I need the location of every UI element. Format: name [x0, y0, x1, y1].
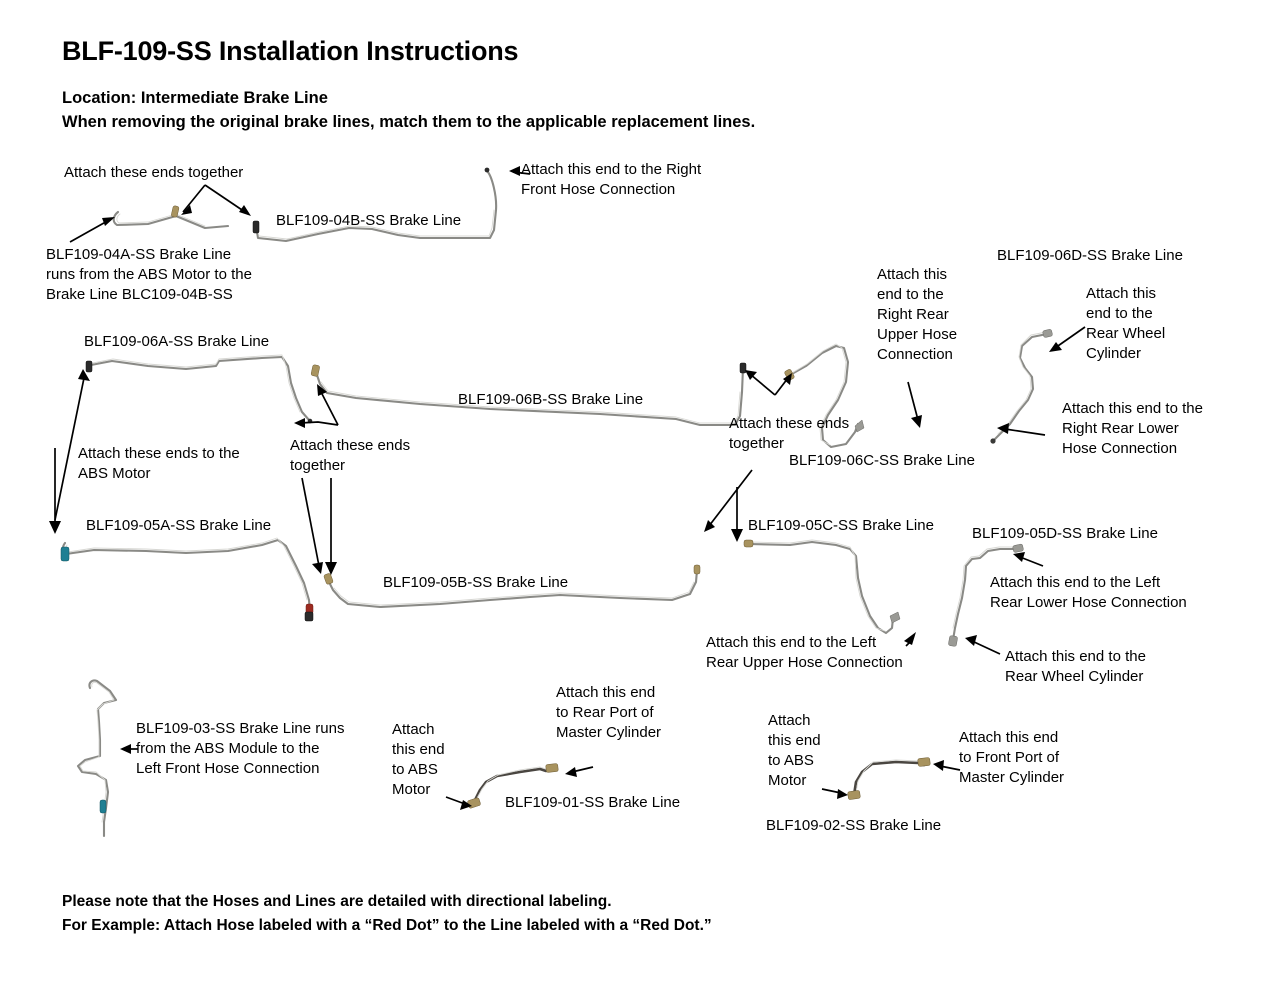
label-line-06a: BLF109-06A-SS Brake Line	[84, 332, 269, 352]
match-instruction-line: When removing the original brake lines, …	[62, 113, 755, 132]
arrow-front-port-master	[933, 760, 960, 771]
label-line-05d: BLF109-05D-SS Brake Line	[972, 524, 1158, 544]
label-line-04a: BLF109-04A-SS Brake Line runs from the A…	[46, 245, 252, 305]
arrow-line-04a	[70, 217, 115, 242]
label-line-06c: BLF109-06C-SS Brake Line	[789, 451, 975, 471]
arrow-right-rear-lower	[997, 423, 1045, 435]
callout-attach-rear-wheel-cylinder-left: Attach this end to the Rear Wheel Cylind…	[1005, 647, 1146, 687]
callout-attach-rear-port-master: Attach this end to Rear Port of Master C…	[556, 683, 661, 743]
label-line-02: BLF109-02-SS Brake Line	[766, 816, 941, 836]
callout-attach-ends-together-mid-right: Attach these ends together	[729, 414, 849, 454]
label-line-05a: BLF109-05A-SS Brake Line	[86, 516, 271, 536]
label-line-05b: BLF109-05B-SS Brake Line	[383, 573, 568, 593]
arrow-attach-ends-together-mid-left	[294, 384, 338, 428]
arrow-attach-ends-together-mid-left-down	[302, 478, 337, 575]
arrow-right-rear-upper	[908, 382, 922, 428]
callout-attach-ends-together-top: Attach these ends together	[64, 163, 243, 183]
arrow-attach-ends-together-mid-right	[745, 370, 792, 395]
pipe-03	[78, 680, 116, 836]
callout-attach-front-port-master: Attach this end to Front Port of Master …	[959, 728, 1064, 788]
callout-attach-abs-motor-ends: Attach these ends to the ABS Motor	[78, 444, 240, 484]
label-line-06d: BLF109-06D-SS Brake Line	[997, 246, 1183, 266]
callout-attach-right-rear-lower: Attach this end to the Right Rear Lower …	[1062, 399, 1203, 459]
callout-attach-abs-motor-01: Attach this end to ABS Motor	[392, 720, 445, 800]
arrow-abs-motor-02	[822, 789, 848, 799]
callout-attach-right-rear-upper: Attach this end to the Right Rear Upper …	[877, 265, 957, 365]
label-line-05c: BLF109-05C-SS Brake Line	[748, 516, 934, 536]
pipe-06d	[990, 329, 1052, 444]
label-line-03: BLF109-03-SS Brake Line runs from the AB…	[136, 719, 344, 779]
arrow-rear-port-master	[565, 767, 593, 777]
pipe-05a	[61, 538, 313, 621]
callout-attach-left-rear-upper: Attach this end to the Left Rear Upper H…	[706, 633, 903, 673]
callout-attach-left-rear-lower: Attach this end to the Left Rear Lower H…	[990, 573, 1187, 613]
callout-attach-ends-together-mid-left: Attach these ends together	[290, 436, 410, 476]
label-line-06b: BLF109-06B-SS Brake Line	[458, 390, 643, 410]
location-line: Location: Intermediate Brake Line	[62, 89, 328, 108]
pipe-02	[848, 757, 931, 799]
arrow-abs-motor-01	[446, 797, 472, 810]
callout-attach-abs-motor-02: Attach this end to ABS Motor	[768, 711, 821, 791]
arrow-left-rear-lower	[1013, 552, 1043, 566]
footer-note-red-dot-example: For Example: Attach Hose labeled with a …	[62, 917, 712, 935]
arrow-attach-ends-together-mid-right-down	[704, 470, 752, 542]
pipe-05c	[744, 540, 900, 633]
page-title: BLF-109-SS Installation Instructions	[62, 36, 518, 67]
pipe-06a	[86, 355, 312, 423]
installation-instructions-page: BLF-109-SS Installation Instructions Loc…	[0, 0, 1280, 989]
footer-note-directional-labeling: Please note that the Hoses and Lines are…	[62, 893, 612, 911]
arrow-rear-wheel-cylinder-right	[1049, 327, 1085, 352]
arrow-attach-ends-together-top	[181, 185, 251, 216]
label-line-04b: BLF109-04B-SS Brake Line	[276, 211, 461, 231]
label-line-01: BLF109-01-SS Brake Line	[505, 793, 680, 813]
arrow-rear-wheel-cylinder-left	[965, 635, 1000, 654]
callout-attach-right-front-hose: Attach this end to the Right Front Hose …	[521, 160, 701, 200]
pipe-04a	[114, 205, 228, 228]
brake-line-diagram	[0, 0, 1280, 989]
arrow-left-rear-upper	[904, 632, 916, 646]
callout-attach-rear-wheel-cylinder-right: Attach this end to the Rear Wheel Cylind…	[1086, 284, 1165, 364]
